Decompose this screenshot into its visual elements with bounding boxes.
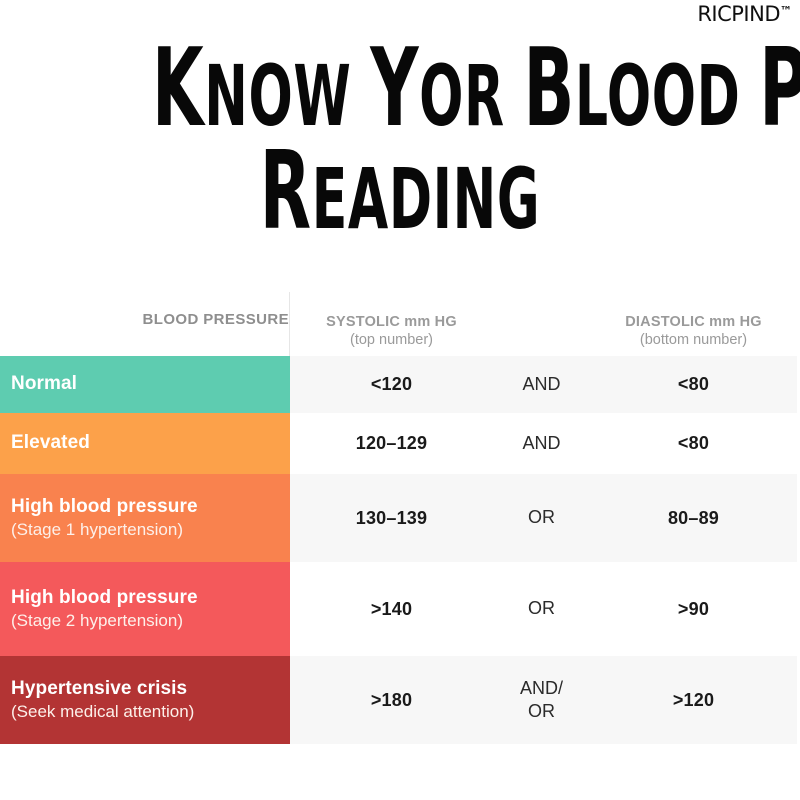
- header-label-blood-pressure: BLOOD PRESSURE: [143, 311, 289, 328]
- category-name: Normal: [11, 373, 280, 395]
- header-label-systolic: SYSTOLIC mm HG: [326, 313, 457, 331]
- operator-cell: AND: [490, 413, 590, 474]
- header-sublabel-diastolic: (bottom number): [640, 331, 747, 349]
- diastolic-cell: >90: [590, 562, 794, 656]
- category-name: High blood pressure: [11, 587, 280, 609]
- category-cell: High blood pressure(Stage 1 hypertension…: [0, 474, 290, 562]
- systolic-value: <120: [371, 374, 412, 395]
- operator-cell: OR: [490, 474, 590, 562]
- operator-cell: OR: [490, 562, 590, 656]
- diastolic-cell: <80: [590, 356, 794, 413]
- systolic-value: 130–139: [356, 508, 427, 529]
- category-cell: High blood pressure(Stage 2 hypertension…: [0, 562, 290, 656]
- operator-value: AND/OR: [520, 677, 563, 724]
- trademark-symbol: ™: [780, 4, 792, 18]
- table-row: High blood pressure(Stage 1 hypertension…: [0, 474, 797, 562]
- diastolic-value: <80: [678, 433, 709, 454]
- table-body: Normal<120AND<80Elevated120–129AND<80Hig…: [0, 356, 797, 744]
- systolic-cell: >140: [290, 562, 490, 656]
- brand-name: RICPIND: [697, 2, 780, 26]
- header-cell-category: BLOOD PRESSURE: [0, 292, 290, 356]
- table-row: Normal<120AND<80: [0, 356, 797, 413]
- category-note: (Stage 1 hypertension): [11, 520, 280, 540]
- page-title: KNOW YOR BLOOD PRESSURE READING: [0, 40, 800, 242]
- diastolic-value: 80–89: [668, 508, 719, 529]
- diastolic-cell: >120: [590, 656, 794, 744]
- systolic-cell: >180: [290, 656, 490, 744]
- operator-cell: AND/OR: [490, 656, 590, 744]
- category-note: (Seek medical attention): [11, 702, 280, 722]
- category-name: High blood pressure: [11, 496, 280, 518]
- table-row: Hypertensive crisis(Seek medical attenti…: [0, 656, 797, 744]
- systolic-cell: <120: [290, 356, 490, 413]
- header-cell-systolic: SYSTOLIC mm HG (top number): [290, 292, 490, 356]
- diastolic-cell: 80–89: [590, 474, 794, 562]
- diastolic-value: >120: [673, 690, 714, 711]
- header-label-diastolic: DIASTOLIC mm HG: [625, 313, 761, 331]
- diastolic-value: >90: [678, 599, 709, 620]
- table-row: High blood pressure(Stage 2 hypertension…: [0, 562, 797, 656]
- page-title-line-2: READING: [152, 143, 648, 242]
- category-cell: Hypertensive crisis(Seek medical attenti…: [0, 656, 290, 744]
- table-header-row: BLOOD PRESSURE SYSTOLIC mm HG (top numbe…: [0, 292, 797, 356]
- table-row: Elevated120–129AND<80: [0, 413, 797, 474]
- category-cell: Normal: [0, 356, 290, 413]
- systolic-value: 120–129: [356, 433, 427, 454]
- brand-logo: RICPIND™: [697, 4, 792, 25]
- operator-value: OR: [528, 506, 555, 529]
- blood-pressure-table: BLOOD PRESSURE SYSTOLIC mm HG (top numbe…: [0, 292, 797, 744]
- operator-value: AND: [522, 432, 560, 455]
- diastolic-cell: <80: [590, 413, 794, 474]
- header-cell-operator: [490, 292, 590, 356]
- systolic-cell: 130–139: [290, 474, 490, 562]
- operator-cell: AND: [490, 356, 590, 413]
- category-cell: Elevated: [0, 413, 290, 474]
- category-name: Hypertensive crisis: [11, 678, 280, 700]
- diastolic-value: <80: [678, 374, 709, 395]
- operator-value: AND: [522, 373, 560, 396]
- category-note: (Stage 2 hypertension): [11, 611, 280, 631]
- systolic-value: >140: [371, 599, 412, 620]
- page-title-line-1: KNOW YOR BLOOD PRESSURE: [152, 40, 648, 139]
- systolic-value: >180: [371, 690, 412, 711]
- category-name: Elevated: [11, 432, 280, 454]
- header-cell-diastolic: DIASTOLIC mm HG (bottom number): [590, 292, 794, 356]
- header-sublabel-systolic: (top number): [350, 331, 433, 349]
- systolic-cell: 120–129: [290, 413, 490, 474]
- operator-value: OR: [528, 597, 555, 620]
